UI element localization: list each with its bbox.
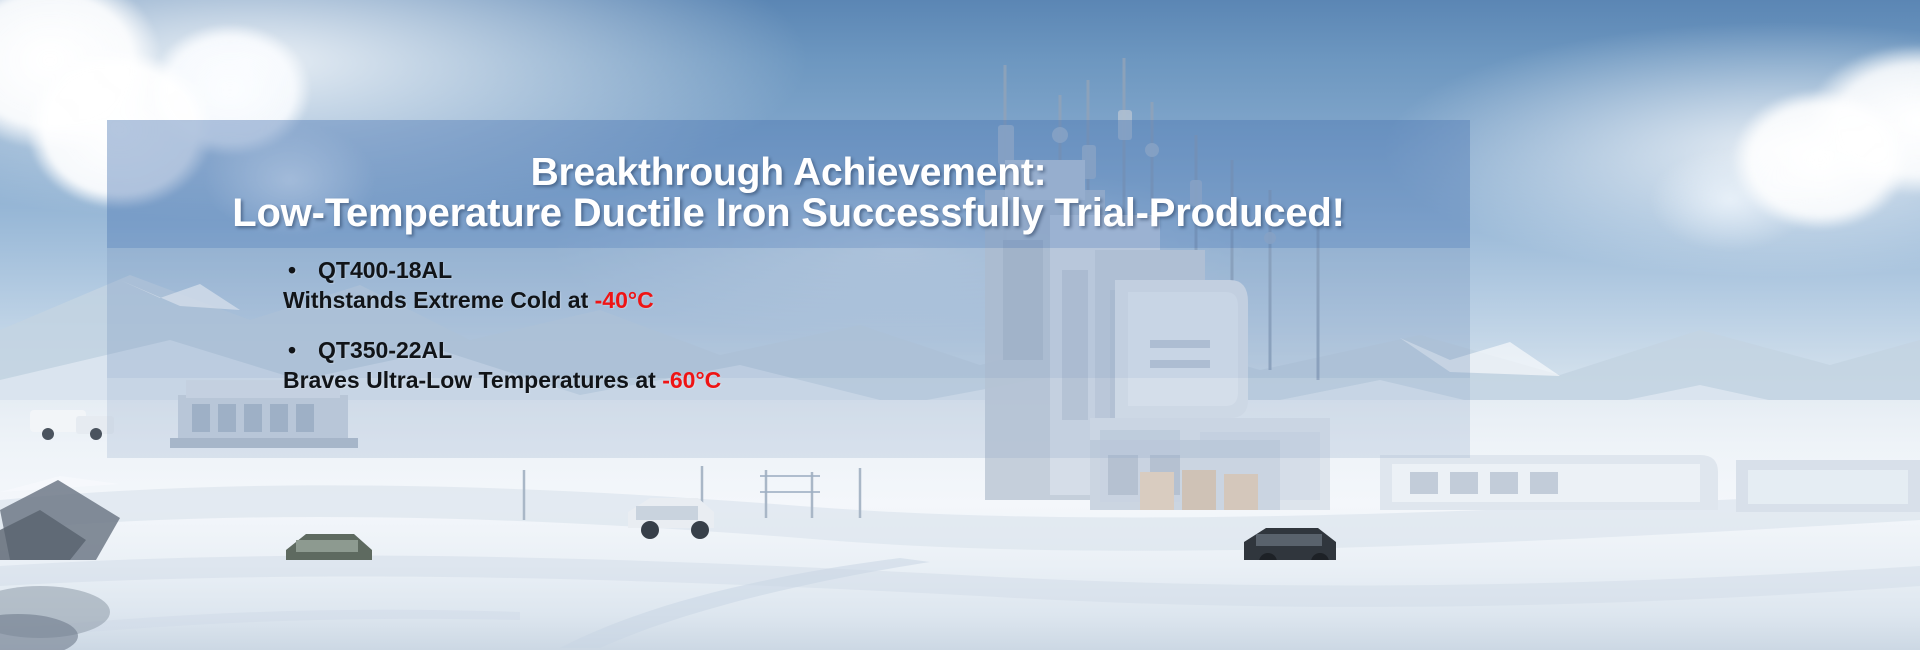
vehicle-car-bottom-right bbox=[1244, 528, 1336, 560]
temperature-highlight: -60°C bbox=[662, 367, 721, 393]
page-title: Breakthrough Achievement: Low-Temperatur… bbox=[107, 152, 1470, 234]
vehicle-suv-center bbox=[628, 498, 714, 539]
bullet-grade-label: QT400-18AL bbox=[318, 257, 452, 283]
bullet-dot-icon: • bbox=[288, 255, 318, 285]
bullet-dot-icon: • bbox=[288, 335, 318, 365]
promo-banner: Breakthrough Achievement: Low-Temperatur… bbox=[0, 0, 1920, 650]
feature-list: •QT400-18AL Withstands Extreme Cold at -… bbox=[107, 255, 1470, 415]
bullet-grade-row: •QT350-22AL bbox=[107, 335, 1470, 365]
temperature-highlight: -40°C bbox=[595, 287, 654, 313]
bullet-description-text: Withstands Extreme Cold at bbox=[283, 287, 595, 313]
list-item: •QT350-22AL Braves Ultra-Low Temperature… bbox=[107, 335, 1470, 395]
bullet-grade-label: QT350-22AL bbox=[318, 337, 452, 363]
bullet-description-row: Braves Ultra-Low Temperatures at -60°C bbox=[107, 365, 1470, 395]
bullet-description-row: Withstands Extreme Cold at -40°C bbox=[107, 285, 1470, 315]
bullet-grade-row: •QT400-18AL bbox=[107, 255, 1470, 285]
vehicle-truck-left bbox=[30, 410, 114, 440]
headline-line-2: Low-Temperature Ductile Iron Successfull… bbox=[107, 193, 1470, 234]
list-item: •QT400-18AL Withstands Extreme Cold at -… bbox=[107, 255, 1470, 315]
vehicle-suv-bottom-left bbox=[286, 534, 372, 560]
bullet-description-text: Braves Ultra-Low Temperatures at bbox=[283, 367, 662, 393]
headline-line-1: Breakthrough Achievement: bbox=[107, 152, 1470, 193]
